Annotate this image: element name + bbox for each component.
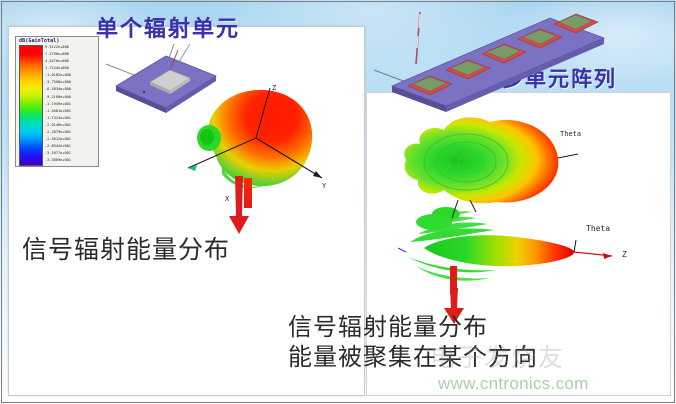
legend-value: -9.2160e+000	[45, 96, 97, 100]
watermark-url: www.cntronics.com	[438, 374, 589, 394]
legend-title: dB(GainTotal)	[16, 37, 98, 44]
legend-value: -1.1949e+001	[45, 103, 97, 107]
legend-value: -3.3809e+001	[45, 159, 97, 163]
legend-value: 1.7144e+000	[45, 67, 97, 71]
watermark-chinese: 电子发烧友	[430, 338, 565, 374]
legend-value: -2.2879e+001	[45, 131, 97, 135]
legend-value: -3.7508e+000	[45, 81, 97, 85]
legend-value: 4.4470e+000	[45, 60, 97, 64]
legend-value: -2.5612e+001	[45, 138, 97, 142]
slide-canvas: 单个辐射单元 多单元阵列 dB(GainTotal) 9.9122e+0007.…	[0, 0, 676, 404]
axis-label-z-array-side: Z	[622, 250, 627, 259]
legend-value: 7.1796e+000	[45, 53, 97, 57]
axis-label-y-element: Y	[322, 182, 326, 190]
arrow-down-icon-left	[225, 176, 253, 234]
array-antenna-model	[372, 8, 608, 112]
axis-label-z-element: Z	[272, 84, 276, 92]
radiation-pattern-single-element	[178, 82, 330, 208]
legend-value: 9.9122e+000	[45, 46, 97, 50]
axis-label-theta-array-top: Theta	[560, 130, 581, 138]
caption-single-element: 信号辐射能量分布	[22, 230, 230, 266]
legend-value: -6.4834e+000	[45, 88, 97, 92]
legend-body: 9.9122e+0007.1796e+0004.4470e+0001.7144e…	[16, 44, 98, 166]
legend-scale-values: 9.9122e+0007.1796e+0004.4470e+0001.7144e…	[45, 45, 97, 164]
legend-value: -1.0182e+000	[45, 74, 97, 78]
radiation-pattern-array-side	[398, 196, 628, 294]
legend-value: -2.0146e+001	[45, 124, 97, 128]
axis-label-theta-array-side: Theta	[586, 224, 610, 233]
legend-value: -1.7414e+001	[45, 117, 97, 121]
colorbar-gradient	[19, 45, 43, 166]
legend-value: -1.4681e+001	[45, 110, 97, 114]
legend-value: -2.8344e+001	[45, 145, 97, 149]
gain-legend-box: dB(GainTotal) 9.9122e+0007.1796e+0004.44…	[15, 36, 99, 167]
legend-value: -3.1077e+001	[45, 152, 97, 156]
heading-single-element: 单个辐射单元	[96, 11, 240, 43]
